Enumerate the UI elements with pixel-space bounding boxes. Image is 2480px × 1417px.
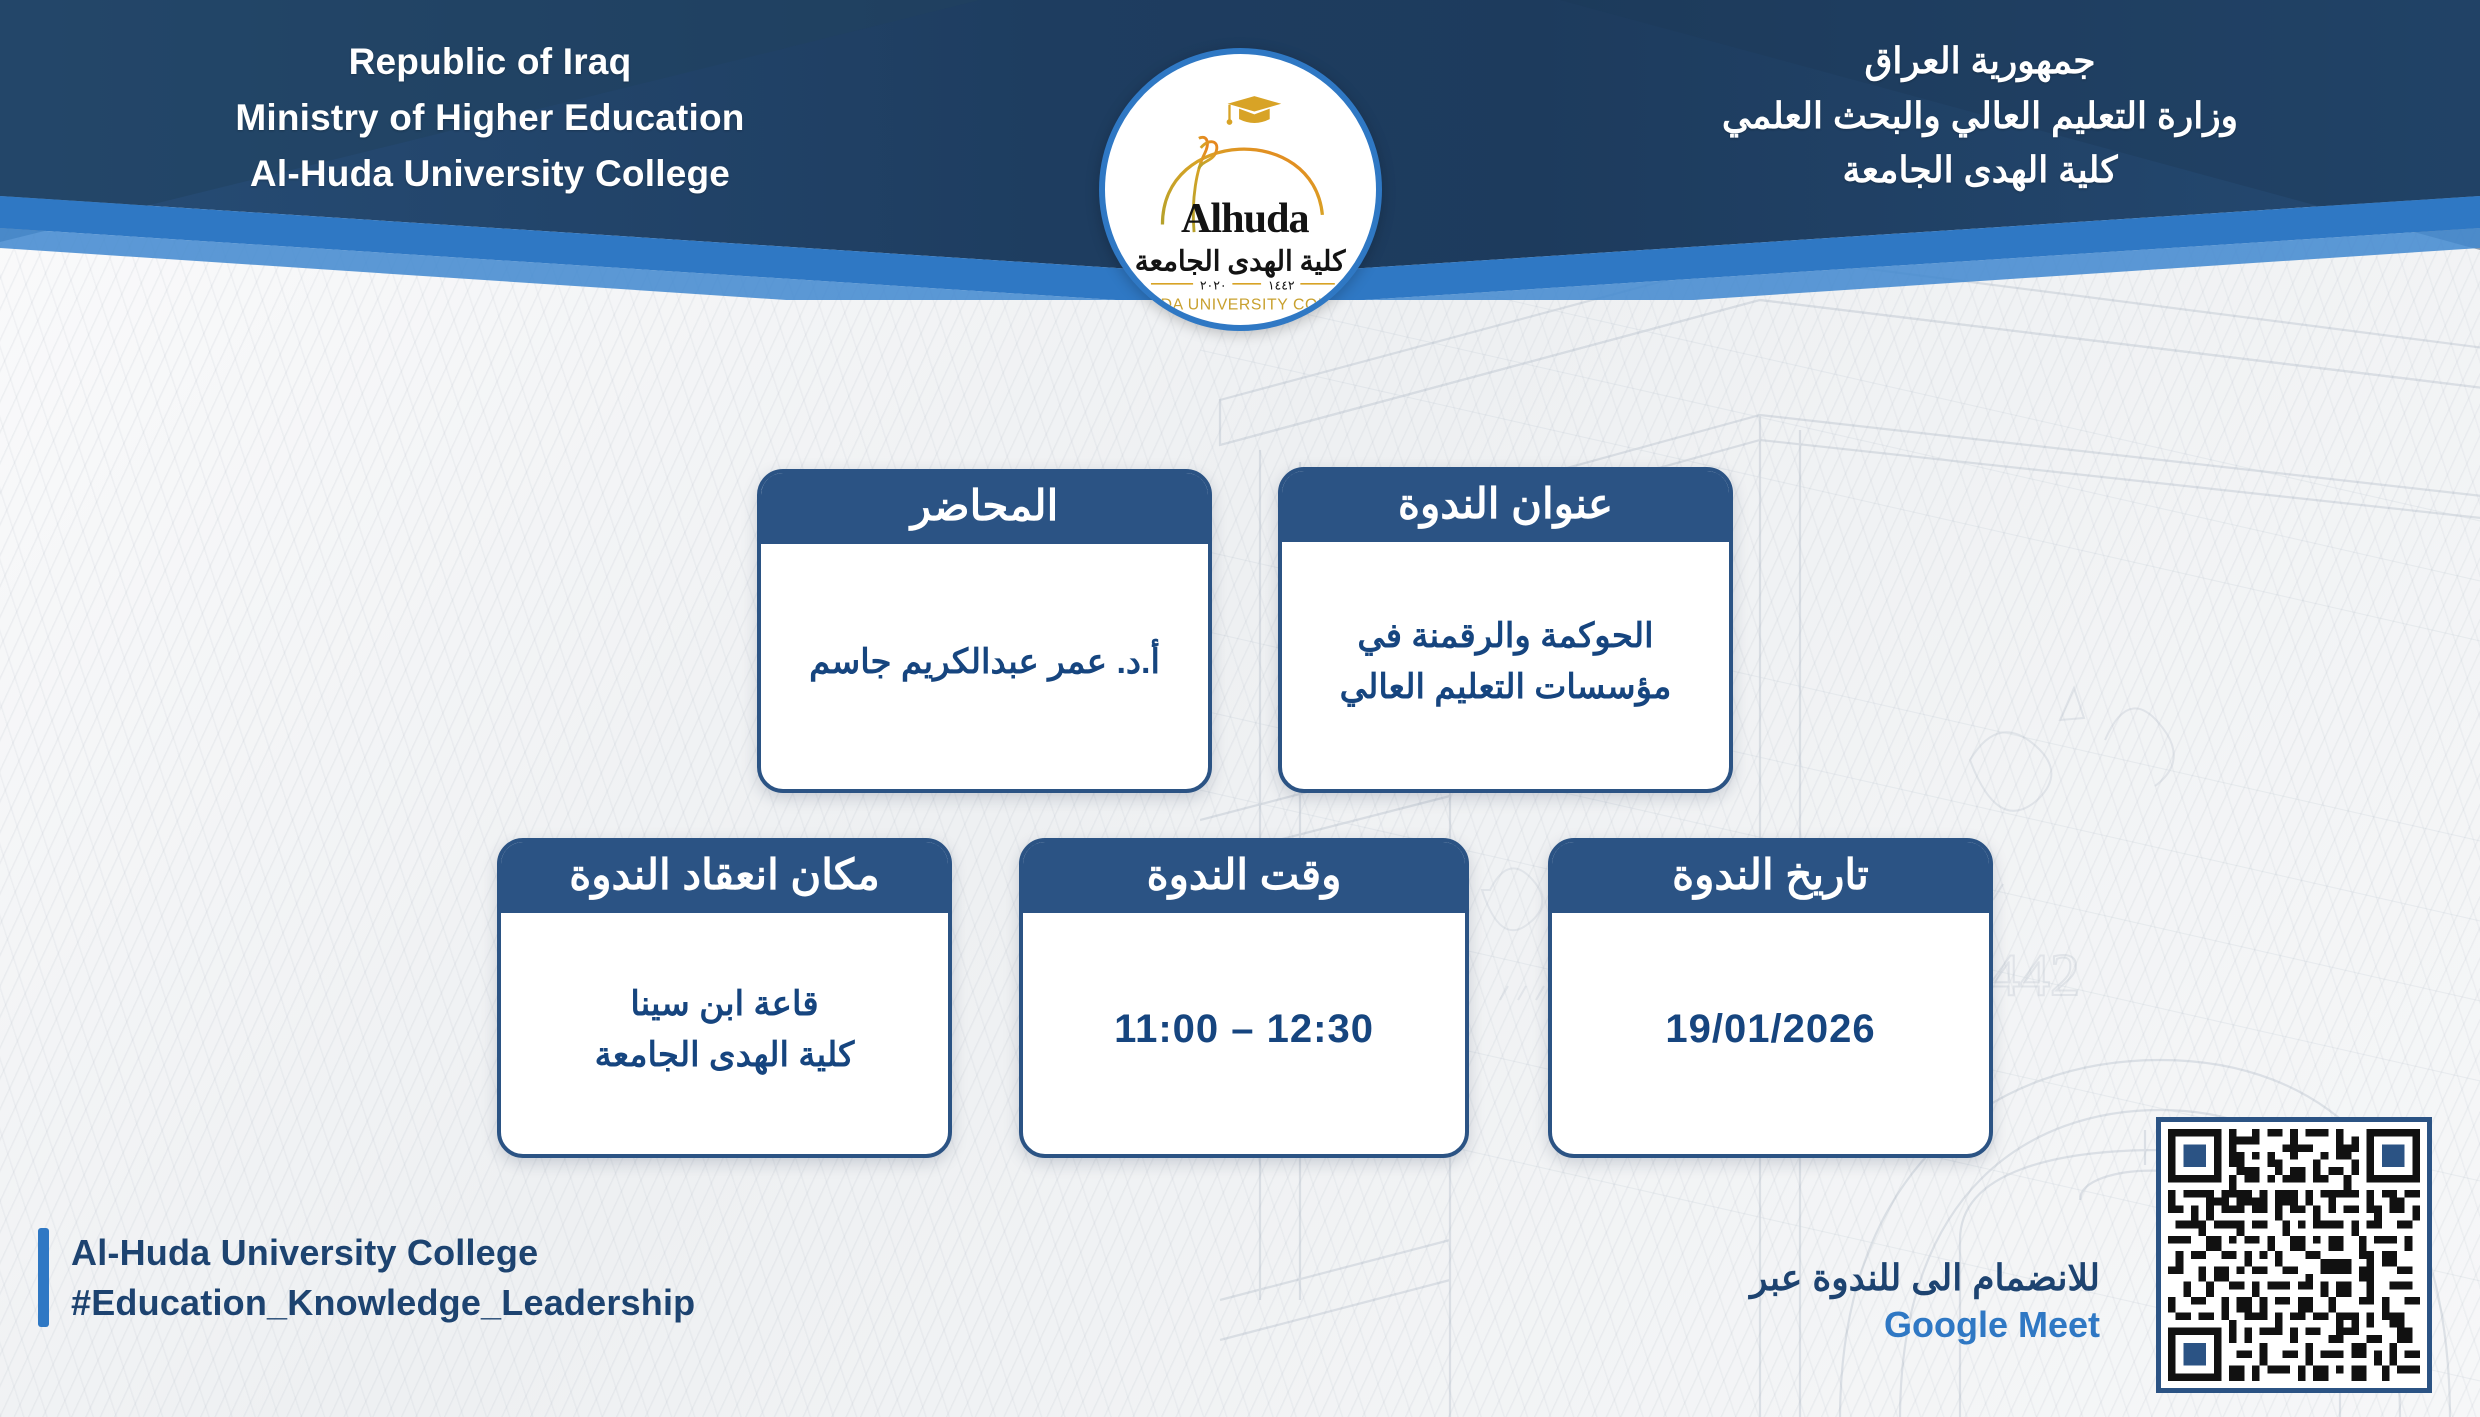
card-time-value: 11:00 – 12:30 bbox=[1023, 913, 1465, 1154]
qr-code[interactable] bbox=[2156, 1117, 2432, 1393]
header-right-line-2: وزارة التعليم العالي والبحث العلمي bbox=[1590, 89, 2370, 144]
card-venue-heading: مكان انعقاد الندوة bbox=[501, 842, 948, 913]
header-right-line-1: جمهورية العراق bbox=[1590, 34, 2370, 89]
card-seminar-title-heading: عنوان الندوة bbox=[1282, 471, 1729, 542]
header-left-line-3: Al-Huda University College bbox=[120, 146, 860, 202]
card-date-value: 19/01/2026 bbox=[1552, 913, 1989, 1154]
card-time: وقت الندوة 11:00 – 12:30 bbox=[1019, 838, 1469, 1158]
card-date: تاريخ الندوة 19/01/2026 bbox=[1548, 838, 1993, 1158]
header-right-line-3: كلية الهدى الجامعة bbox=[1590, 143, 2370, 198]
footer-branding: Al-Huda University College #Education_Kn… bbox=[38, 1228, 695, 1327]
header-left-text: Republic of Iraq Ministry of Higher Educ… bbox=[120, 34, 860, 203]
header-left-line-2: Ministry of Higher Education bbox=[120, 90, 860, 146]
join-instructions: للانضمام الى للندوة عبر Google Meet bbox=[1560, 1255, 2100, 1347]
svg-text:٢٠٢٠: ٢٠٢٠ bbox=[1200, 279, 1227, 293]
card-date-heading: تاريخ الندوة bbox=[1552, 842, 1989, 913]
card-time-heading: وقت الندوة bbox=[1023, 842, 1465, 913]
svg-text:١٤٤٢: ١٤٤٢ bbox=[1268, 279, 1295, 293]
university-logo: Alhuda كلية الهدى الجامعة ٢٠٢٠ ١٤٤٢ AL-H… bbox=[1099, 48, 1382, 331]
footer-accent-bar bbox=[38, 1228, 49, 1327]
header-left-line-1: Republic of Iraq bbox=[120, 34, 860, 90]
join-arabic-text: للانضمام الى للندوة عبر bbox=[1560, 1255, 2100, 1300]
seminar-poster: 1442 bbox=[0, 0, 2480, 1417]
svg-text:Alhuda: Alhuda bbox=[1181, 195, 1310, 242]
svg-text:كلية الهدى الجامعة: كلية الهدى الجامعة bbox=[1135, 246, 1346, 278]
card-seminar-title-value: الحوكمة والرقمنة في مؤسسات التعليم العال… bbox=[1282, 542, 1729, 789]
join-platform-label: Google Meet bbox=[1560, 1302, 2100, 1347]
card-lecturer: المحاضر أ.د. عمر عبدالكريم جاسم bbox=[757, 469, 1212, 793]
footer-college-name: Al-Huda University College bbox=[71, 1228, 695, 1278]
card-venue-value: قاعة ابن سينا كلية الهدى الجامعة bbox=[501, 913, 948, 1154]
card-venue: مكان انعقاد الندوة قاعة ابن سينا كلية ال… bbox=[497, 838, 952, 1158]
card-seminar-title: عنوان الندوة الحوكمة والرقمنة في مؤسسات … bbox=[1278, 467, 1733, 793]
card-lecturer-heading: المحاضر bbox=[761, 473, 1208, 544]
footer-hashtag: #Education_Knowledge_Leadership bbox=[71, 1278, 695, 1328]
card-lecturer-value: أ.د. عمر عبدالكريم جاسم bbox=[761, 544, 1208, 789]
header-right-text: جمهورية العراق وزارة التعليم العالي والب… bbox=[1590, 34, 2370, 198]
